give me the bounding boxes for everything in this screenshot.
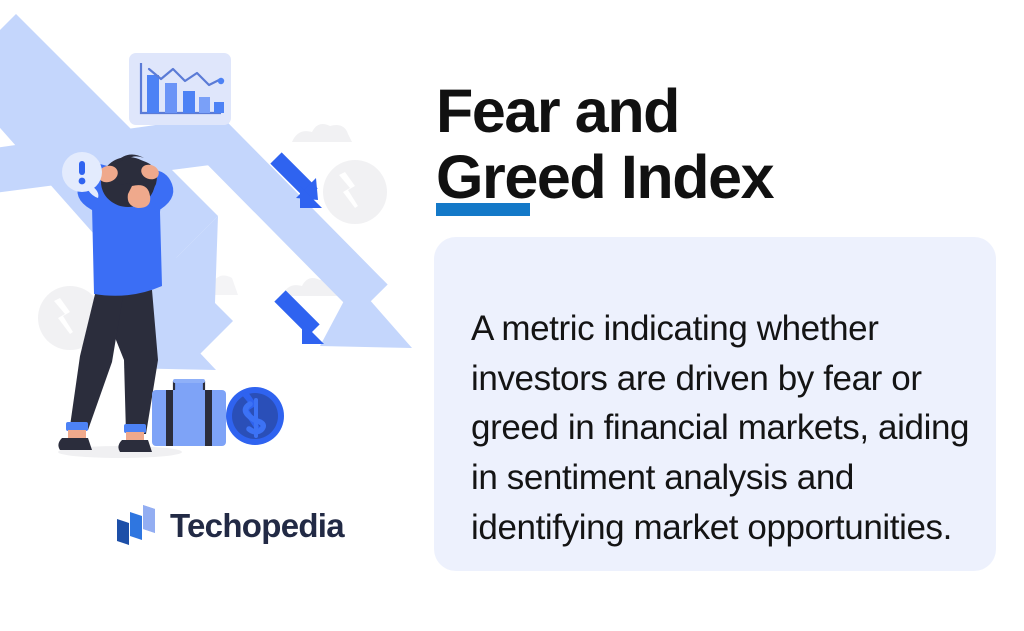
brand-name: Techopedia [170, 509, 344, 542]
content-panel: Fear and Greed Index A metric indicating… [424, 0, 1024, 631]
description-card: A metric indicating whether investors ar… [434, 237, 996, 571]
page-title: Fear and Greed Index [436, 79, 1016, 211]
brand-logo[interactable]: Techopedia [113, 503, 344, 547]
small-down-arrow-lower [280, 296, 324, 344]
broken-coin [226, 387, 284, 445]
description-text: A metric indicating whether investors ar… [471, 304, 971, 552]
title-accent-bar [436, 203, 530, 216]
infographic-canvas: Techopedia Fear and Greed Index A metric… [0, 0, 1024, 631]
page-title-line-1: Fear and [436, 79, 1016, 145]
techopedia-logo-mark [113, 503, 159, 547]
page-title-line-2: Greed Index [436, 145, 1016, 211]
briefcase [152, 379, 226, 446]
illustration-panel: Techopedia [0, 0, 424, 631]
declining-bar-chart-icon [129, 53, 231, 125]
